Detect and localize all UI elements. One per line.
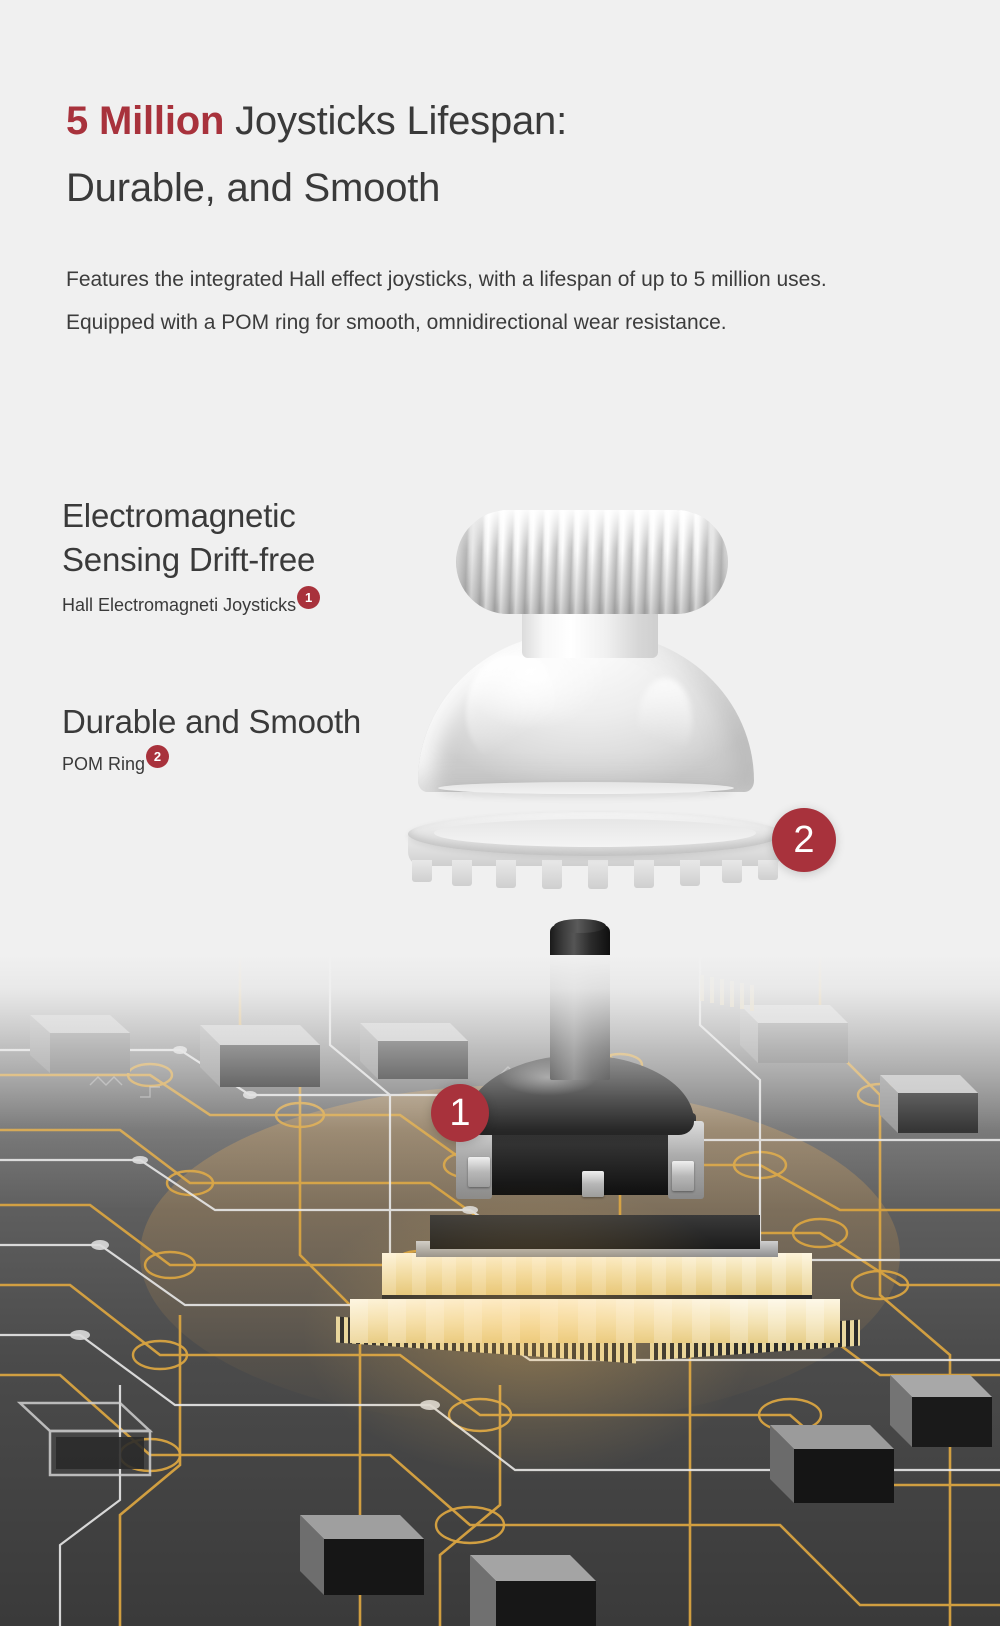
page-title: 5 Million Joysticks Lifespan: Durable, a…	[66, 88, 926, 222]
product-infographic: 5 Million Joysticks Lifespan: Durable, a…	[0, 0, 1000, 1626]
hall-joystick-module	[430, 925, 730, 1235]
ring-tooth	[452, 860, 472, 886]
feature-subtitle: POM Ring	[62, 754, 145, 775]
intro-paragraph: Features the integrated Hall effect joys…	[66, 258, 856, 344]
pom-ring	[400, 812, 790, 910]
ring-tooth	[412, 860, 432, 882]
ring-tooth	[542, 860, 562, 889]
ring-tooth	[758, 860, 778, 880]
ring-inner-opening	[434, 819, 756, 847]
feature-subtitle-row: POM Ring 2	[62, 754, 361, 777]
chip-substrate-lower	[350, 1299, 840, 1343]
callout-marker-1: 1	[431, 1084, 489, 1142]
ring-tooth	[680, 860, 700, 886]
feature-block-electromagnetic: Electromagnetic Sensing Drift-free Hall …	[62, 494, 320, 618]
feature-block-durable: Durable and Smooth POM Ring 2	[62, 700, 361, 777]
cap-highlight	[466, 654, 556, 766]
ring-teeth	[408, 860, 782, 902]
feature-title: Electromagnetic Sensing Drift-free	[62, 494, 320, 581]
ring-tooth	[588, 860, 608, 889]
cap-highlight-secondary	[638, 678, 692, 764]
feature-subtitle-row: Hall Electromagneti Joysticks 1	[62, 595, 320, 618]
gold-substrate-chip	[320, 1215, 860, 1355]
callout-marker-2: 2	[772, 808, 836, 872]
module-clip	[582, 1171, 604, 1197]
headline-accent: 5 Million	[66, 99, 224, 143]
feature-badge-2: 2	[146, 745, 169, 768]
ring-tooth	[496, 860, 516, 888]
headline-line2: Durable, and Smooth	[66, 166, 440, 210]
joystick-cap	[406, 482, 766, 782]
module-clip	[468, 1157, 490, 1187]
feature-title: Durable and Smooth	[62, 700, 361, 744]
ring-tooth	[634, 860, 654, 888]
cap-rib-ends	[456, 510, 728, 614]
module-shaft	[550, 925, 610, 1080]
ring-tooth	[722, 860, 742, 883]
cap-ribbed-top	[456, 510, 728, 614]
chip-substrate-upper	[382, 1253, 812, 1299]
module-clip	[672, 1161, 694, 1191]
feature-badge-1: 1	[297, 586, 320, 609]
feature-subtitle: Hall Electromagneti Joysticks	[62, 595, 296, 616]
headline-rest: Joysticks Lifespan:	[224, 99, 567, 143]
